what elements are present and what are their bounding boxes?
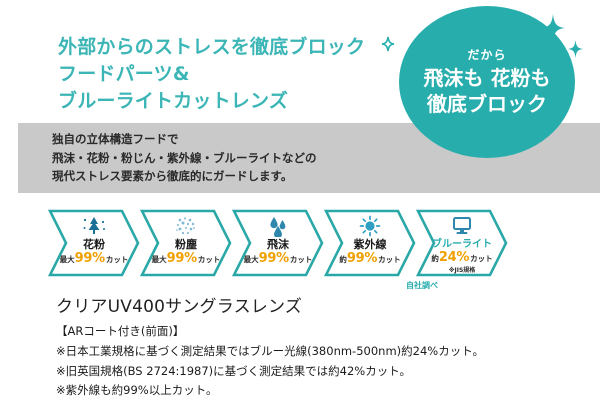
feature-item-dust: 粉塵 最大 99% カット <box>140 209 232 277</box>
rate-suffix: カット <box>106 256 129 264</box>
feature-rate: 最大 99% カット <box>244 252 313 265</box>
badge-kicker: だから <box>467 46 506 63</box>
feature-rate: 最大 99% カット <box>152 252 221 265</box>
sun-icon <box>358 214 382 238</box>
feature-list: 花粉 最大 99% カット <box>48 209 508 277</box>
feature-label: 紫外線 <box>354 239 387 251</box>
sparkle-small-icon <box>568 40 583 58</box>
rate-value: 24% <box>439 251 469 264</box>
feature-label: 粉塵 <box>175 239 197 251</box>
cedar-tree-icon <box>82 214 106 238</box>
rate-prefix: 最大 <box>60 256 75 264</box>
feature-item-bluelight: ブルーライト 約 24% カット ※JIS規格 <box>416 209 508 277</box>
rate-suffix: カット <box>290 256 313 264</box>
rate-prefix: 最大 <box>244 256 259 264</box>
rate-value: 99% <box>259 252 289 265</box>
rate-suffix: カット <box>378 256 401 264</box>
feature-label: 飛沫 <box>267 239 289 251</box>
dust-particles-icon <box>174 214 198 238</box>
rate-value: 99% <box>347 252 377 265</box>
rate-value: 99% <box>167 252 197 265</box>
product-specs: 【ARコート付き(前面)】 ※日本工業規格に基づく測定結果ではブルー光線(380… <box>56 322 484 401</box>
page-title: 外部からのストレスを徹底ブロック フードパーツ& ブルーライトカットレンズ <box>58 34 365 115</box>
feature-label: ブルーライト <box>432 239 492 250</box>
self-survey-note: 自社調べ <box>406 280 438 291</box>
feature-standard-note: ※JIS規格 <box>449 265 476 274</box>
monitor-icon <box>450 214 474 238</box>
rate-prefix: 約 <box>339 256 347 264</box>
sparkle-large-icon <box>541 14 565 42</box>
rate-prefix: 最大 <box>152 256 167 264</box>
rate-value: 99% <box>75 252 105 265</box>
rate-suffix: カット <box>470 255 493 263</box>
feature-rate: 最大 99% カット <box>60 252 129 265</box>
info-panel-text: 独自の立体構造フードで 飛沫・花粉・粉じん・紫外線・ブルーライトなどの 現代スト… <box>52 130 317 186</box>
product-title: クリアUV400サングラスレンズ <box>56 292 302 317</box>
badge-main-text: 飛沫も 花粉も 徹底ブロック <box>424 66 551 117</box>
feature-item-droplet: 飛沫 最大 99% カット <box>232 209 324 277</box>
feature-rate: 約 99% カット <box>339 252 400 265</box>
feature-label: 花粉 <box>83 239 105 251</box>
rate-prefix: 約 <box>431 255 439 263</box>
water-droplet-icon <box>266 214 290 238</box>
sparkle-outline-icon <box>381 36 395 52</box>
feature-rate: 約 24% カット <box>431 251 492 264</box>
feature-item-uv: 紫外線 約 99% カット <box>324 209 416 277</box>
rate-suffix: カット <box>198 256 221 264</box>
feature-item-pollen: 花粉 最大 99% カット <box>48 209 140 277</box>
